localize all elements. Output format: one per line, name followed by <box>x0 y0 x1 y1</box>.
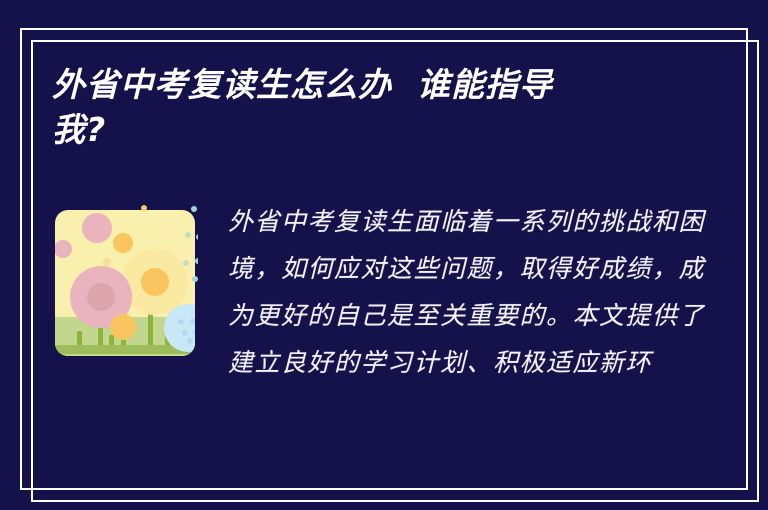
article-content-row: 外省中考复读生面临着一系列的挑战和困境，如何应对这些问题，取得好成绩，成为更好的… <box>52 198 712 386</box>
page-title: 外省中考复读生怎么办 谁能指导 我? <box>52 62 692 152</box>
page-title-line-2: 我? <box>52 107 692 152</box>
article-body: 外省中考复读生面临着一系列的挑战和困境，如何应对这些问题，取得好成绩，成为更好的… <box>228 198 712 386</box>
article-thumbnail <box>52 205 198 362</box>
page-title-line-1: 外省中考复读生怎么办 谁能指导 <box>52 62 692 107</box>
poster-canvas: 外省中考复读生怎么办 谁能指导 我? <box>0 0 768 510</box>
flower-garden-icon <box>52 205 198 362</box>
